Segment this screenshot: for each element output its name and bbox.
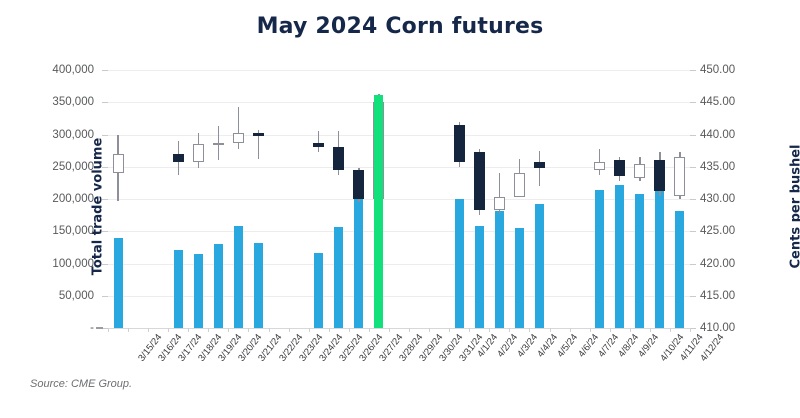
x-axis-tick-mark	[108, 328, 109, 332]
plot-area	[108, 70, 690, 328]
y-axis-left-tick-label: 300,000	[0, 129, 94, 141]
volume-bar-highlight[interactable]	[374, 95, 383, 328]
y-axis-right-tick-label: 420.00	[700, 258, 800, 270]
candle-body[interactable]	[534, 162, 545, 168]
y-axis-right-tick-label: 425.00	[700, 225, 800, 237]
x-axis-tick-mark	[449, 328, 450, 332]
volume-bar[interactable]	[174, 250, 183, 328]
x-axis-tick-mark	[570, 328, 571, 332]
x-axis-tick-label: 4/3/24	[515, 332, 540, 360]
volume-bar[interactable]	[334, 227, 343, 328]
volume-bar[interactable]	[254, 243, 263, 328]
x-axis-tick-mark	[409, 328, 410, 332]
x-axis-tick-mark	[228, 328, 229, 332]
x-axis-tick-label: 4/9/24	[636, 332, 661, 360]
y-axis-left-tick-label: 400,000	[0, 64, 94, 76]
candle-body[interactable]	[253, 133, 264, 136]
x-axis-tick-mark	[590, 328, 591, 332]
x-axis-tick-label: 4/7/24	[596, 332, 621, 360]
y-axis-left-tick-label: 150,000	[0, 225, 94, 237]
candle-body[interactable]	[173, 154, 184, 162]
candle-body[interactable]	[353, 170, 364, 199]
x-axis-tick-mark	[148, 328, 149, 332]
candle-body[interactable]	[654, 160, 665, 191]
y-axis-right-tick-mark	[690, 102, 696, 103]
zero-tick-dash	[96, 327, 103, 329]
volume-bar[interactable]	[655, 182, 664, 328]
x-axis-tick-mark	[509, 328, 510, 332]
y-axis-right-tick-label: 430.00	[700, 193, 800, 205]
x-axis-tick-mark	[429, 328, 430, 332]
x-axis-tick-mark	[128, 328, 129, 332]
volume-bar[interactable]	[535, 204, 544, 328]
y-axis-right-tick-mark	[690, 231, 696, 232]
x-axis-tick-label: 4/5/24	[556, 332, 581, 360]
y-axis-right-tick-mark	[690, 167, 696, 168]
y-axis-right-tick-label: 440.00	[700, 129, 800, 141]
candle-wick	[238, 107, 239, 149]
x-axis-tick-mark	[489, 328, 490, 332]
y-axis-right-tick-label: 435.00	[700, 161, 800, 173]
volume-bar[interactable]	[635, 194, 644, 328]
y-axis-right-tick-mark	[690, 70, 696, 71]
chart-container: May 2024 Corn futures Total trade volume…	[0, 0, 800, 418]
candle-body[interactable]	[313, 143, 324, 148]
volume-bar[interactable]	[595, 190, 604, 328]
x-axis-tick-mark	[289, 328, 290, 332]
candle-body[interactable]	[674, 157, 685, 196]
candle-body[interactable]	[494, 197, 505, 210]
y-axis-right-tick-label: 445.00	[700, 96, 800, 108]
candle-body[interactable]	[614, 160, 625, 176]
volume-bar[interactable]	[675, 211, 684, 328]
x-axis-tick-mark	[610, 328, 611, 332]
y-axis-right-tick-label: 410.00	[700, 322, 800, 334]
candle-body[interactable]	[514, 173, 525, 197]
y-axis-left-tick-label: 250,000	[0, 161, 94, 173]
x-axis-tick-mark	[529, 328, 530, 332]
x-axis-tick-mark	[389, 328, 390, 332]
y-axis-left-tick-label: 50,000	[0, 290, 94, 302]
x-axis-tick-label: 4/8/24	[616, 332, 641, 360]
x-axis-tick-mark	[369, 328, 370, 332]
candle-wick	[539, 151, 540, 186]
y-axis-right-tick-mark	[690, 296, 696, 297]
x-axis-tick-mark	[269, 328, 270, 332]
x-axis-tick-mark	[670, 328, 671, 332]
y-axis-left-tick-label: 350,000	[0, 96, 94, 108]
y-axis-left-tick-label: -	[0, 322, 94, 334]
candle-body[interactable]	[474, 152, 485, 210]
candle-body[interactable]	[634, 164, 645, 179]
x-axis-tick-mark	[469, 328, 470, 332]
x-axis-tick-mark	[248, 328, 249, 332]
x-axis-line	[108, 328, 690, 329]
volume-bar[interactable]	[515, 228, 524, 328]
volume-bar[interactable]	[455, 199, 464, 328]
x-axis-tick-label: 4/4/24	[536, 332, 561, 360]
x-axis-tick-mark	[630, 328, 631, 332]
y-axis-right-tick-mark	[690, 135, 696, 136]
x-axis-tick-mark	[650, 328, 651, 332]
y-axis-left-tick-label: 100,000	[0, 258, 94, 270]
x-axis-tick-mark	[550, 328, 551, 332]
x-axis-tick-mark	[690, 328, 691, 332]
x-axis-tick-mark	[168, 328, 169, 332]
x-axis-tick-mark	[309, 328, 310, 332]
candle-body[interactable]	[193, 144, 204, 162]
y-axis-right-tick-mark	[690, 199, 696, 200]
x-axis-tick-mark	[349, 328, 350, 332]
x-axis-tick-label: 4/6/24	[576, 332, 601, 360]
volume-bar[interactable]	[314, 253, 323, 328]
candle-body[interactable]	[213, 143, 224, 145]
candle-body[interactable]	[113, 154, 124, 173]
source-note: Source: CME Group.	[30, 378, 132, 390]
volume-bar[interactable]	[354, 199, 363, 328]
y-axis-left-tick-label: 200,000	[0, 193, 94, 205]
x-axis-tick-mark	[329, 328, 330, 332]
candle-body[interactable]	[233, 133, 244, 143]
x-axis-tick-mark	[188, 328, 189, 332]
volume-bar[interactable]	[214, 244, 223, 328]
x-axis-tick-mark	[208, 328, 209, 332]
y-axis-right-tick-label: 450.00	[700, 64, 800, 76]
candle-body[interactable]	[333, 147, 344, 170]
y-axis-right-tick-mark	[690, 264, 696, 265]
volume-bar[interactable]	[615, 185, 624, 328]
candle-body[interactable]	[454, 125, 465, 162]
volume-bar[interactable]	[194, 254, 203, 328]
volume-bar[interactable]	[495, 211, 504, 328]
volume-bar[interactable]	[114, 238, 123, 328]
x-axis-tick-label: 4/2/24	[495, 332, 520, 360]
volume-bar[interactable]	[234, 226, 243, 328]
candle-body[interactable]	[594, 162, 605, 170]
volume-bar[interactable]	[475, 226, 484, 328]
y-axis-right-tick-label: 415.00	[700, 290, 800, 302]
chart-title: May 2024 Corn futures	[0, 14, 800, 39]
